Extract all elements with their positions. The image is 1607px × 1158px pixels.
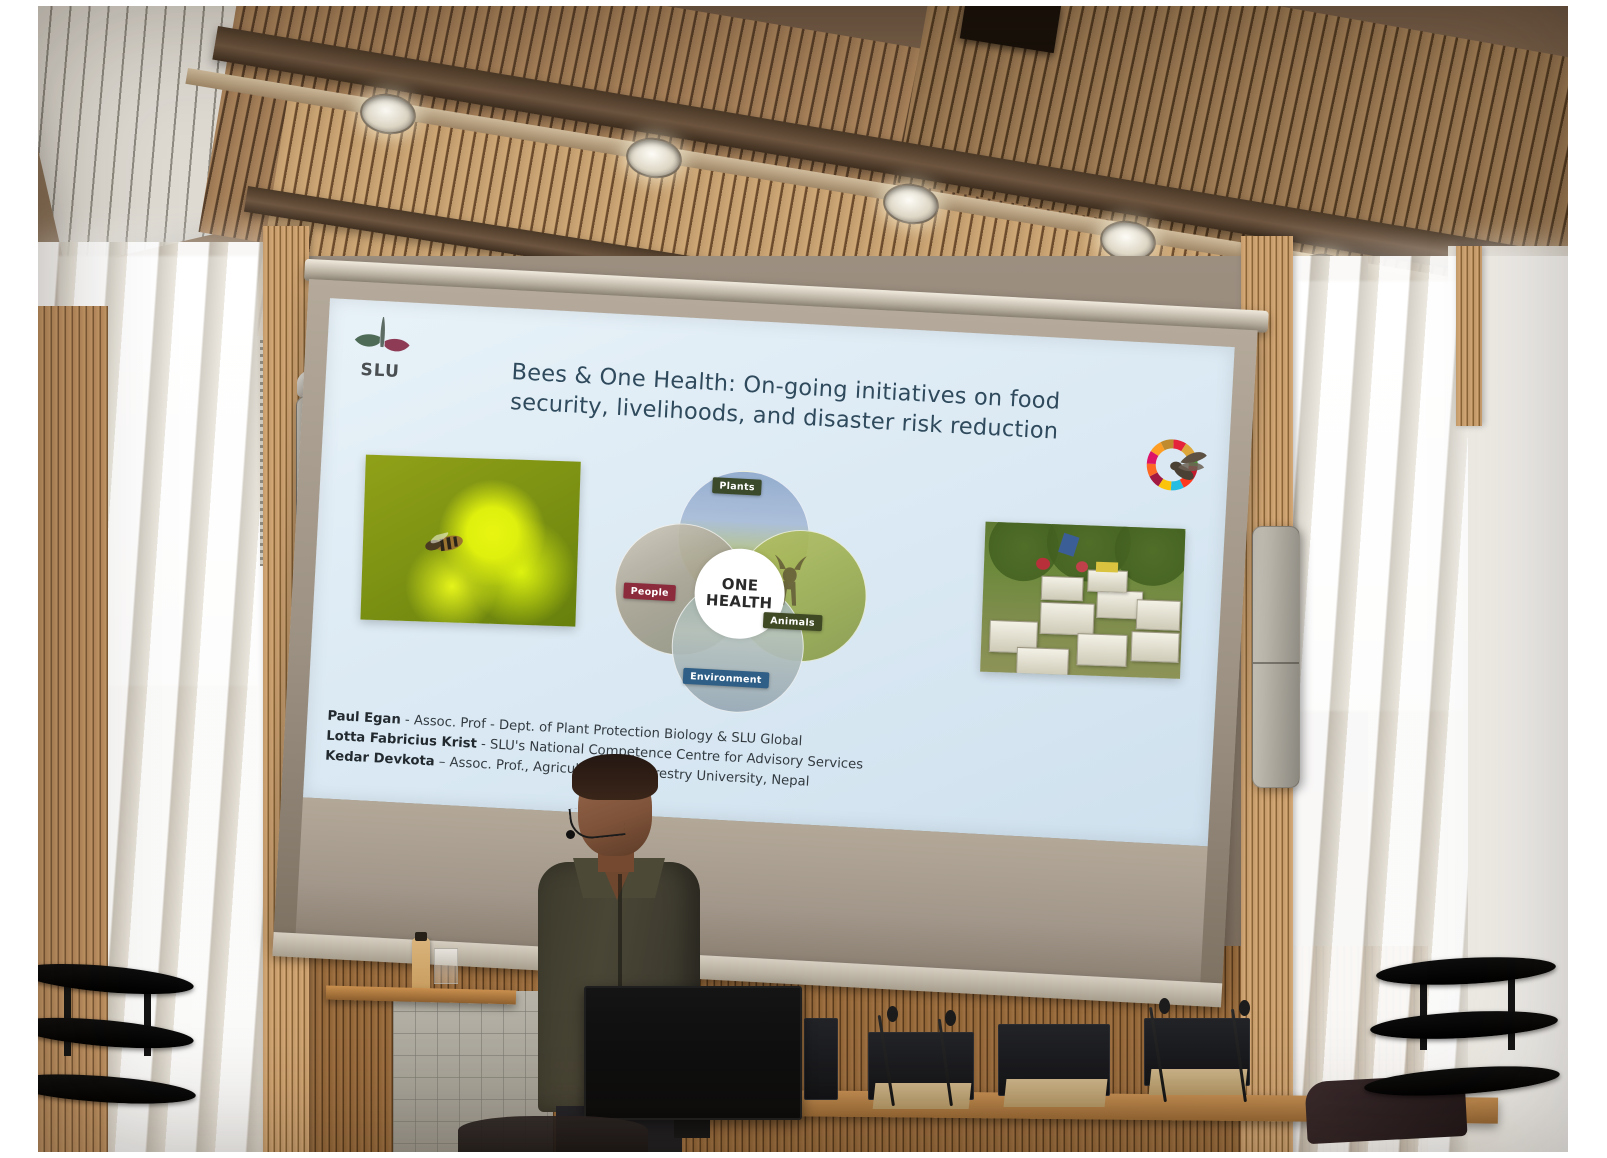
presentation-slide: SLU — [303, 298, 1235, 846]
author-name: Paul Egan — [327, 709, 401, 728]
microphone-capsule — [566, 830, 575, 839]
venn-label-people: People — [623, 582, 676, 601]
hanging-chain — [260, 336, 263, 566]
chair-right[interactable] — [1368, 952, 1558, 1152]
slide-image-bee-on-flower — [360, 455, 580, 627]
slu-logo-text: SLU — [348, 359, 413, 382]
microphone-capsule — [1239, 1000, 1250, 1016]
presenter-hair — [572, 754, 658, 800]
laptop[interactable] — [804, 1018, 836, 1098]
microphone-capsule — [1159, 998, 1170, 1014]
wood-column-corner — [1456, 246, 1482, 426]
venn-label-animals: Animals — [763, 612, 822, 631]
laptop[interactable] — [998, 1024, 1108, 1094]
projection-screen: SLU — [273, 261, 1259, 1001]
microphone-capsule — [887, 1006, 898, 1022]
sdg-wheel-bee-logo — [1138, 428, 1212, 502]
foreground-person-silhouette — [458, 1116, 648, 1152]
bottle-cap — [415, 932, 427, 941]
chair-left[interactable] — [38, 958, 198, 1152]
screen-surface: SLU — [273, 279, 1257, 989]
wall-speaker-right — [1252, 526, 1300, 788]
microphone-capsule — [945, 1010, 956, 1026]
confidence-monitor — [584, 986, 802, 1120]
photo-frame: SLU — [0, 0, 1607, 1158]
bee-icon — [421, 528, 469, 558]
slide-image-apiary — [980, 522, 1185, 679]
drinking-glass[interactable] — [434, 948, 458, 984]
one-health-venn-diagram: ONE HEALTH Plants People Animals Environ… — [609, 464, 871, 707]
headset-microphone-icon — [568, 803, 625, 840]
lecture-hall-photo: SLU — [38, 6, 1568, 1152]
page-title: Bees & One Health: On-going initiatives … — [454, 355, 1116, 450]
author-name: Kedar Devkota — [325, 749, 435, 770]
venn-center-line-2: HEALTH — [705, 592, 772, 612]
venn-label-plants: Plants — [712, 477, 762, 496]
